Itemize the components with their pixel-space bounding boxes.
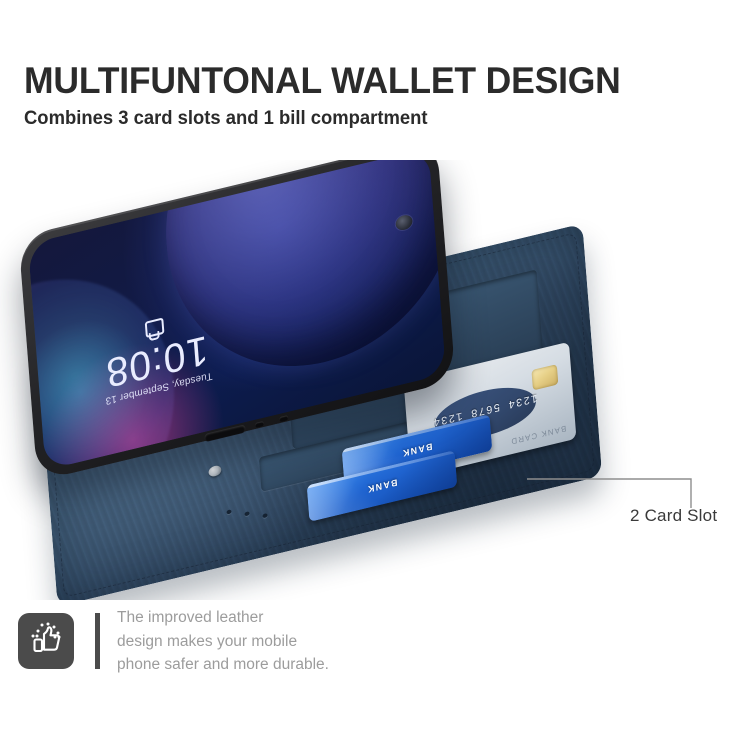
feature-line-1: The improved leather	[117, 606, 329, 630]
lock-icon	[144, 318, 164, 339]
leather-perforation-dot	[226, 509, 231, 514]
page-title: MULTIFUNTONAL WALLET DESIGN	[24, 62, 621, 100]
header-block: MULTIFUNTONAL WALLET DESIGN Combines 3 c…	[24, 62, 646, 130]
card-brand: BANK CARD	[509, 424, 566, 447]
feature-divider-bar	[95, 613, 100, 669]
leather-perforation-dot	[262, 513, 267, 518]
thumbs-up-icon	[18, 613, 74, 669]
snap-rivet	[208, 465, 221, 478]
callout-label: 2 Card Slot	[630, 506, 717, 526]
speaker-grille	[280, 415, 289, 422]
leather-perforation-dot	[244, 511, 249, 516]
feature-line-3: phone safer and more durable.	[117, 653, 329, 677]
card-chip-icon	[531, 364, 558, 390]
speaker-grille	[254, 421, 263, 428]
page-subtitle: Combines 3 card slots and 1 bill compart…	[24, 109, 627, 130]
feature-description: The improved leather design makes your m…	[117, 606, 329, 677]
product-photo: 1234 5678 1234 00/00 BANK CARD BANK BANK…	[0, 160, 750, 600]
feature-line-2: design makes your mobile	[117, 630, 329, 654]
feature-block: The improved leather design makes your m…	[18, 606, 329, 677]
leader-path	[527, 479, 691, 508]
